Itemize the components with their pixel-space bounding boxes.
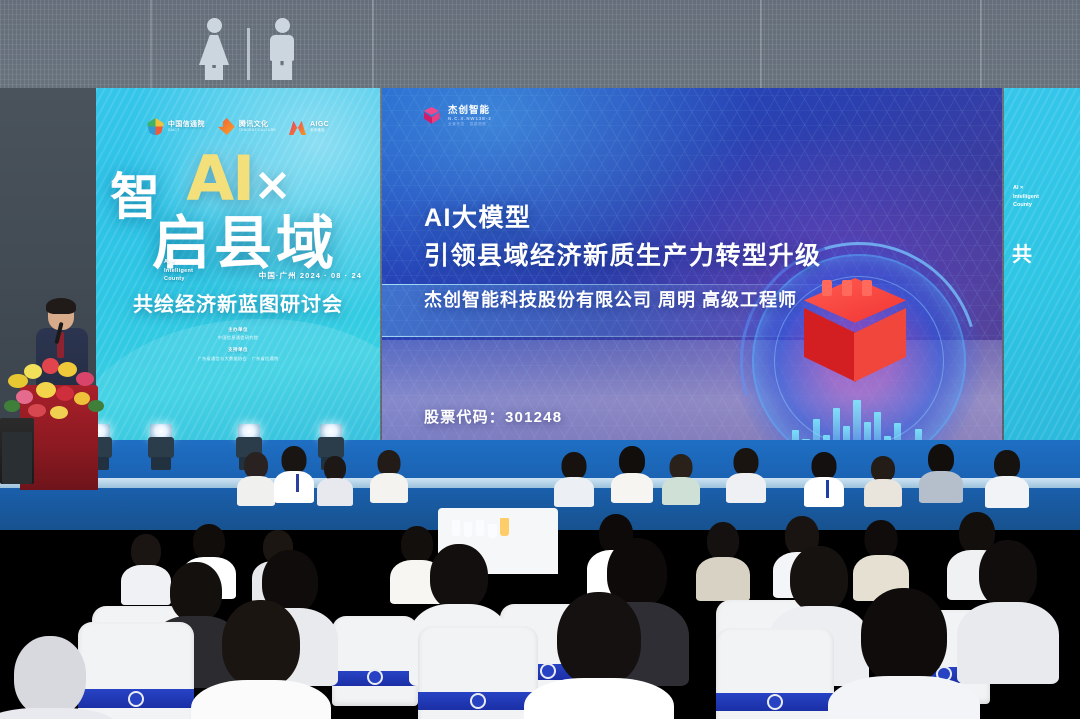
audience-person-foreground bbox=[0, 636, 100, 719]
conference-photo-scene: 中国信通院 CAICT 腾讯文化 TENCENT CULTURE AIGC 未来… bbox=[0, 0, 1080, 719]
sponsor-logo-3: AIGC 未来峰会 bbox=[289, 118, 329, 135]
hero-x-text: × bbox=[253, 157, 290, 211]
male-restroom-icon bbox=[264, 18, 300, 80]
audience-person-foreground bbox=[540, 592, 658, 719]
audience-person bbox=[968, 540, 1048, 680]
audience-person-foreground bbox=[206, 600, 316, 719]
company-logo-en: N.C.X.NW13E-2 bbox=[448, 117, 492, 121]
drink-glass bbox=[488, 524, 497, 538]
audience-person bbox=[858, 520, 904, 596]
sponsor-logo-2: 腾讯文化 TENCENT CULTURE bbox=[218, 118, 276, 135]
audience-chair bbox=[418, 626, 538, 719]
right-backdrop-banner: AI × Intelligent County 共 bbox=[1004, 88, 1080, 486]
audience-person bbox=[866, 456, 900, 504]
female-restroom-icon bbox=[196, 18, 232, 80]
audience-person bbox=[700, 522, 746, 596]
company-logo-sub: 全景开发 · 智能物联 bbox=[448, 123, 492, 127]
audience-chair bbox=[332, 616, 418, 706]
presentation-screen: 杰创智能 N.C.X.NW13E-2 全景开发 · 智能物联 AI大模型 引领县… bbox=[382, 88, 1002, 486]
right-partial-text: 共 bbox=[1012, 238, 1032, 267]
audience-chair bbox=[716, 628, 834, 719]
aigc-summit-logo-icon bbox=[289, 118, 306, 135]
sponsor-logo-row: 中国信通院 CAICT 腾讯文化 TENCENT CULTURE AIGC 未来… bbox=[96, 118, 380, 135]
cube-logo-icon bbox=[422, 106, 443, 127]
sponsor-3-cn: AIGC bbox=[310, 121, 329, 128]
audience-person-foreground bbox=[844, 588, 964, 719]
sign-divider bbox=[247, 28, 250, 80]
organizer-value: 中国信息通信研究院 bbox=[96, 334, 380, 342]
audience-person bbox=[372, 450, 406, 500]
slide-heading-line2: 引领县域经济新质生产力转型升级 bbox=[424, 236, 822, 272]
sponsor-logo-1: 中国信通院 CAICT bbox=[147, 118, 205, 135]
drink-bottle bbox=[500, 518, 509, 536]
sponsor-1-en: CAICT bbox=[168, 129, 205, 132]
drink-glass bbox=[464, 522, 472, 537]
audience-person bbox=[318, 456, 352, 502]
drink-glass bbox=[452, 520, 460, 536]
backdrop-subtitle: 共绘经济新蓝图研讨会 bbox=[96, 288, 380, 317]
drink-glass bbox=[476, 520, 484, 536]
audience-area bbox=[0, 430, 1080, 719]
company-logo: 杰创智能 N.C.X.NW13E-2 全景开发 · 智能物联 bbox=[422, 106, 492, 127]
sponsor-2-cn: 腾讯文化 bbox=[239, 121, 276, 128]
caict-logo-icon bbox=[147, 118, 164, 135]
backdrop-organizer-block: 主办单位 中国信息通信研究院 支持单位 广东省通信与大数据协会 · 广东省信通院 bbox=[96, 326, 380, 363]
company-logo-cn: 杰创智能 bbox=[448, 106, 492, 116]
sponsor-3-en: 未来峰会 bbox=[310, 129, 329, 132]
audience-person bbox=[238, 452, 274, 502]
backdrop-location-date: 中国·广州 2024 · 08 · 24 bbox=[259, 270, 362, 281]
floral-arrangement bbox=[0, 352, 116, 424]
support-label: 支持单位 bbox=[96, 346, 380, 354]
slide-stock-code: 股票代码：301248 bbox=[424, 406, 562, 427]
audience-person bbox=[806, 452, 842, 504]
support-value: 广东省通信与大数据协会 · 广东省信通院 bbox=[96, 355, 380, 363]
hero-ai-text: AI bbox=[186, 142, 253, 215]
audience-person bbox=[988, 450, 1026, 504]
restroom-sign bbox=[196, 14, 300, 80]
audience-person bbox=[276, 446, 312, 498]
red-cube-icon bbox=[796, 278, 914, 390]
tencent-culture-logo-icon bbox=[218, 118, 235, 135]
slide-byline: 杰创智能科技股份有限公司 周明 高级工程师 bbox=[424, 286, 797, 312]
sponsor-1-cn: 中国信通院 bbox=[168, 121, 205, 128]
sponsor-2-en: TENCENT CULTURE bbox=[239, 129, 276, 132]
audience-person bbox=[664, 454, 698, 502]
right-english-tag: AI × Intelligent County bbox=[1013, 184, 1039, 210]
audience-person bbox=[614, 446, 650, 500]
slide-heading-line1: AI大模型 bbox=[424, 198, 532, 234]
backdrop-english-tag: AI × Intelligent County bbox=[164, 258, 193, 284]
audience-person bbox=[728, 448, 764, 500]
organizer-label: 主办单位 bbox=[96, 326, 380, 334]
audience-person bbox=[922, 444, 960, 500]
audience-person bbox=[556, 452, 592, 504]
